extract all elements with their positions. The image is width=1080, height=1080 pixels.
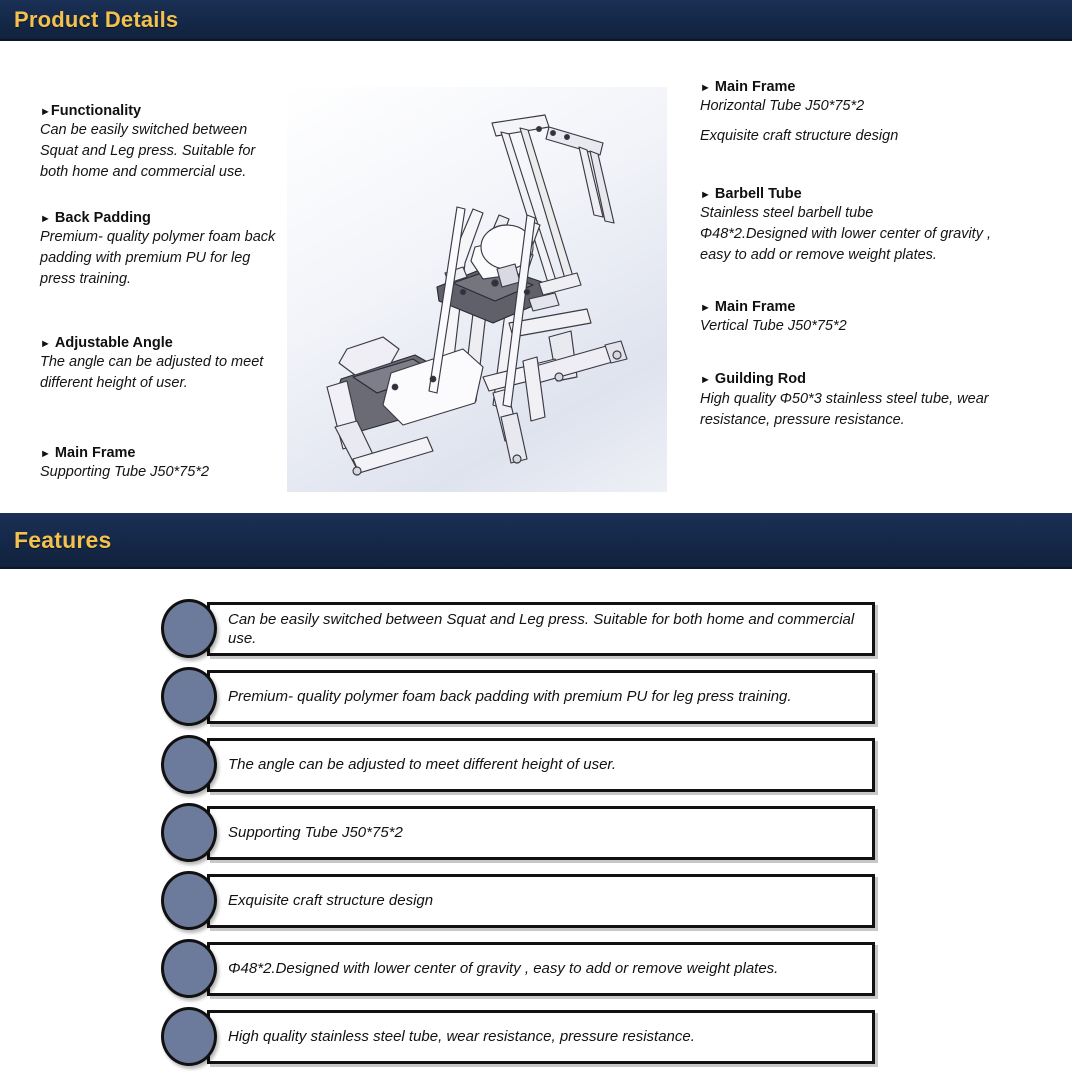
feature-text: High quality stainless steel tube, wear …	[210, 1027, 709, 1047]
spec-heading-adjustable-angle: ► Adjustable Angle	[40, 334, 285, 352]
feature-box: Premium- quality polymer foam back paddi…	[207, 670, 875, 724]
feature-row: Premium- quality polymer foam back paddi…	[0, 664, 1080, 731]
spec-block-back-padding: ► Back Padding Premium- quality polymer …	[40, 209, 285, 290]
feature-row: High quality stainless steel tube, wear …	[0, 1004, 1080, 1071]
feature-text: Premium- quality polymer foam back paddi…	[210, 687, 806, 707]
spec-heading-text: Guilding Rod	[715, 371, 806, 387]
spec-heading-text: Main Frame	[715, 299, 796, 315]
triangle-bullet-icon: ►	[700, 302, 711, 314]
spec-block-adjustable-angle: ► Adjustable Angle The angle can be adju…	[40, 334, 285, 394]
spec-heading-main-frame-supporting: ► Main Frame	[40, 444, 285, 462]
product-details-section-header: Product Details	[0, 0, 1072, 41]
product-details-title: Product Details	[0, 7, 178, 33]
spec-block-guilding-rod: ► Guilding Rod High quality Φ50*3 stainl…	[700, 370, 1000, 430]
spec-block-main-frame-supporting: ► Main Frame Supporting Tube J50*75*2	[40, 444, 285, 483]
spec-heading-main-frame-vertical: ► Main Frame	[700, 298, 1000, 316]
spec-body-main-frame-horizontal: Horizontal Tube J50*75*2	[700, 96, 1000, 117]
spec-body-main-frame-supporting: Supporting Tube J50*75*2	[40, 462, 285, 483]
spec-heading-text: Main Frame	[55, 445, 136, 461]
feature-bullet-circle-icon	[161, 1007, 217, 1066]
feature-text: Φ48*2.Designed with lower center of grav…	[210, 959, 792, 979]
spec-heading-text: Main Frame	[715, 79, 796, 95]
feature-bullet-circle-icon	[161, 871, 217, 930]
triangle-bullet-icon: ►	[40, 106, 51, 118]
feature-box: The angle can be adjusted to meet differ…	[207, 738, 875, 792]
spec-heading-text: Barbell Tube	[715, 186, 802, 202]
spec-body-main-frame-vertical: Vertical Tube J50*75*2	[700, 316, 1000, 337]
feature-bullet-circle-icon	[161, 939, 217, 998]
spec-body-barbell-tube: Stainless steel barbell tube	[700, 203, 1000, 224]
features-section-header: Features	[0, 513, 1072, 569]
feature-box: Supporting Tube J50*75*2	[207, 806, 875, 860]
product-image-panel	[287, 87, 667, 492]
spec-heading-main-frame-horizontal: ► Main Frame	[700, 78, 1000, 96]
spec-body-functionality: Can be easily switched between Squat and…	[40, 120, 285, 183]
feature-row: The angle can be adjusted to meet differ…	[0, 732, 1080, 799]
feature-row: Exquisite craft structure design	[0, 868, 1080, 935]
spec-body-guilding-rod: High quality Φ50*3 stainless steel tube,…	[700, 389, 1000, 431]
feature-box: Φ48*2.Designed with lower center of grav…	[207, 942, 875, 996]
feature-box: High quality stainless steel tube, wear …	[207, 1010, 875, 1064]
spec-block-functionality: ►Functionality Can be easily switched be…	[40, 102, 285, 183]
spec-heading-guilding-rod: ► Guilding Rod	[700, 370, 1000, 388]
feature-text: Can be easily switched between Squat and…	[210, 610, 872, 649]
spec-body-back-padding: Premium- quality polymer foam back paddi…	[40, 227, 285, 290]
feature-row: Can be easily switched between Squat and…	[0, 596, 1080, 663]
triangle-bullet-icon: ►	[40, 213, 51, 225]
feature-bullet-circle-icon	[161, 599, 217, 658]
feature-bullet-circle-icon	[161, 735, 217, 794]
feature-bullet-circle-icon	[161, 667, 217, 726]
feature-box: Exquisite craft structure design	[207, 874, 875, 928]
triangle-bullet-icon: ►	[700, 189, 711, 201]
spec-heading-text: Functionality	[51, 103, 141, 119]
feature-text: Supporting Tube J50*75*2	[210, 823, 417, 843]
triangle-bullet-icon: ►	[40, 338, 51, 350]
product-details-body: ►Functionality Can be easily switched be…	[0, 43, 1080, 509]
feature-row: Supporting Tube J50*75*2	[0, 800, 1080, 867]
spec-body-adjustable-angle: The angle can be adjusted to meet differ…	[40, 352, 285, 394]
squat-leg-press-machine-icon	[287, 87, 667, 492]
spec-heading-text: Adjustable Angle	[55, 335, 173, 351]
triangle-bullet-icon: ►	[40, 448, 51, 460]
spec-body-craft-design: Exquisite craft structure design	[700, 126, 1000, 147]
spec-heading-text: Back Padding	[55, 210, 151, 226]
triangle-bullet-icon: ►	[700, 82, 711, 94]
spec-block-main-frame-vertical: ► Main Frame Vertical Tube J50*75*2	[700, 298, 1000, 337]
spec-block-barbell-tube: ► Barbell Tube Stainless steel barbell t…	[700, 185, 1000, 266]
feature-text: The angle can be adjusted to meet differ…	[210, 755, 630, 775]
feature-text: Exquisite craft structure design	[210, 891, 447, 911]
triangle-bullet-icon: ►	[700, 374, 711, 386]
feature-box: Can be easily switched between Squat and…	[207, 602, 875, 656]
features-title: Features	[0, 527, 111, 554]
spec-block-main-frame-horizontal: ► Main Frame Horizontal Tube J50*75*2 Ex…	[700, 78, 1000, 147]
spec-heading-barbell-tube: ► Barbell Tube	[700, 185, 1000, 203]
spec-column-right: ► Main Frame Horizontal Tube J50*75*2 Ex…	[700, 43, 1000, 431]
spec-body-barbell-tube-detail: Φ48*2.Designed with lower center of grav…	[700, 224, 1000, 266]
spec-heading-functionality: ►Functionality	[40, 102, 285, 120]
feature-row: Φ48*2.Designed with lower center of grav…	[0, 936, 1080, 1003]
spec-column-left: ►Functionality Can be easily switched be…	[40, 43, 285, 483]
spec-heading-back-padding: ► Back Padding	[40, 209, 285, 227]
feature-bullet-circle-icon	[161, 803, 217, 862]
features-list: Can be easily switched between Squat and…	[0, 596, 1080, 1072]
